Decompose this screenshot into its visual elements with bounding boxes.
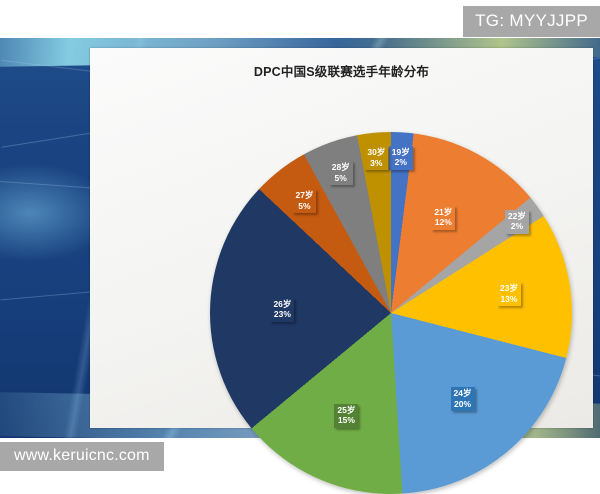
pie-slice-label-category: 23岁 <box>500 283 518 294</box>
pie-slice-label-category: 19岁 <box>392 147 410 158</box>
pie-slice-label-category: 21岁 <box>434 207 452 218</box>
chart-title: DPC中国S级联赛选手年龄分布 <box>90 61 593 80</box>
telegram-watermark: TG: MYYJJPP <box>463 6 600 37</box>
pie-slice-label-category: 22岁 <box>508 211 526 222</box>
pie-slice-label: 24岁20% <box>451 387 475 411</box>
pie-slice-label-value: 3% <box>367 158 385 169</box>
pie-slice-label-value: 12% <box>434 217 452 228</box>
pie-slice-label: 27岁5% <box>292 189 316 213</box>
pie-disc <box>210 132 572 494</box>
pie-slice-label-category: 30岁 <box>367 147 385 158</box>
pie-slice-label: 19岁2% <box>389 146 413 170</box>
pie-slice-label-value: 20% <box>454 399 472 410</box>
pie-slice-label-value: 23% <box>273 309 291 320</box>
pie-slice-label-category: 27岁 <box>295 190 313 201</box>
pie-slice-label: 21岁12% <box>431 206 455 230</box>
website-watermark: www.keruicnc.com <box>0 442 164 471</box>
pie-chart: 19岁2%21岁12%22岁2%23岁13%24岁20%25岁15%26岁23%… <box>210 132 572 494</box>
pie-slice-label: 26岁23% <box>270 298 294 322</box>
pie-slice-label-value: 15% <box>337 415 355 426</box>
pie-slice-label: 22岁2% <box>505 210 529 234</box>
pie-slice-label-category: 25岁 <box>337 405 355 416</box>
pie-slice-label-category: 24岁 <box>454 388 472 399</box>
pie-slice-label-value: 5% <box>295 201 313 212</box>
pie-slice-label: 30岁3% <box>364 146 388 170</box>
pie-slice-label-category: 28岁 <box>332 162 350 173</box>
pie-slice-label-value: 5% <box>332 173 350 184</box>
pie-slice-label-value: 2% <box>392 157 410 168</box>
pie-slice-label: 28岁5% <box>329 161 353 185</box>
pie-slice-label: 25岁15% <box>334 404 358 428</box>
pie-slice-label: 23岁13% <box>497 282 521 306</box>
pie-slice-label-category: 26岁 <box>273 299 291 310</box>
pie-slice-label-value: 2% <box>508 221 526 232</box>
screenshot-root: DPC中国S级联赛选手年龄分布 19岁2%21岁12%22岁2%23岁13%24… <box>0 0 600 480</box>
chart-card: DPC中国S级联赛选手年龄分布 19岁2%21岁12%22岁2%23岁13%24… <box>90 48 593 428</box>
pie-slice-label-value: 13% <box>500 294 518 305</box>
